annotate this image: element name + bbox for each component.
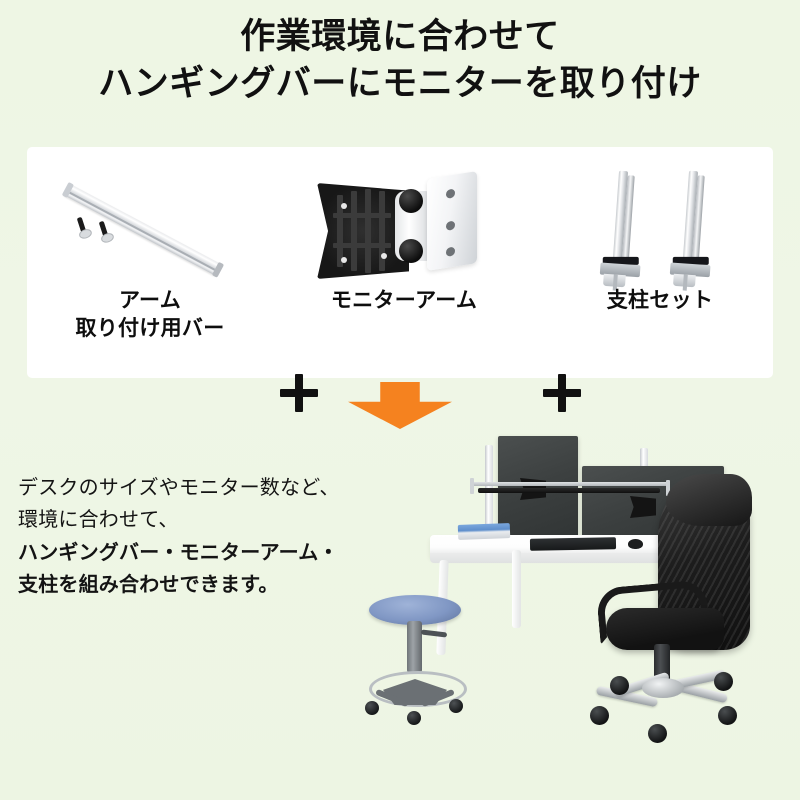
product-item-monitor-arm[interactable]: モニターアーム [299, 169, 509, 359]
stool-height-lever [421, 629, 447, 637]
screw-icon [98, 220, 111, 243]
stool-caster [407, 711, 421, 725]
chair-caster [590, 706, 609, 725]
product-label-arm-mounting-bar: アーム 取り付け用バー [45, 287, 255, 342]
arm-knuckle-top [399, 189, 423, 213]
screw-icon [76, 216, 89, 239]
blue-stool [355, 595, 475, 730]
chair-caster [718, 706, 737, 725]
combination-row: アーム 取り付け用バー [27, 147, 773, 378]
desk-leg [512, 550, 521, 628]
stool-caster [449, 699, 463, 713]
product-label-pole-set: 支柱セット [555, 287, 765, 315]
product-label-line1: アーム [119, 289, 181, 312]
wall-mount-plate [427, 171, 477, 271]
chair-caster [648, 724, 667, 743]
chair-caster [610, 676, 629, 695]
chair-caster [714, 672, 733, 691]
pole-set-icon [555, 169, 765, 287]
monitor-arm-icon [299, 169, 509, 287]
stool-caster [365, 701, 379, 715]
office-setup-scene [330, 420, 800, 800]
office-chair [592, 480, 792, 780]
arm-knuckle-bottom [399, 239, 423, 263]
monitor-arm-shape [317, 173, 493, 285]
stool-cylinder [407, 621, 422, 673]
plus-icon [540, 371, 584, 415]
clamp-pole [589, 169, 657, 289]
pole-pair-shape [585, 171, 745, 287]
book-stack [458, 523, 510, 540]
product-item-pole-set[interactable]: 支柱セット [555, 169, 765, 359]
page-title-line1: 作業環境に合わせて [0, 16, 800, 59]
chair-headrest [666, 474, 752, 526]
chair-base-hub [642, 678, 684, 698]
promo-banner: 作業環境に合わせて ハンギングバーにモニターを取り付け [0, 0, 800, 800]
product-combination-card: アーム 取り付け用バー [27, 147, 773, 378]
product-label-line1: 支柱セット [607, 289, 714, 312]
product-item-arm-mounting-bar[interactable]: アーム 取り付け用バー [45, 169, 255, 359]
product-label-monitor-arm: モニターアーム [299, 287, 509, 315]
clamp-pole [659, 169, 727, 289]
bar-end-cap-right [212, 262, 224, 278]
plus-icon [277, 371, 321, 415]
bar-end-left [470, 478, 474, 494]
mounting-bar-icon [45, 169, 255, 287]
product-label-line1: モニターアーム [331, 289, 477, 312]
product-label-line2: 取り付け用バー [45, 315, 255, 343]
page-title-line2: ハンギングバーにモニターを取り付け [0, 63, 800, 106]
page-title: 作業環境に合わせて ハンギングバーにモニターを取り付け [0, 16, 800, 105]
bar-end-cap-left [62, 182, 74, 198]
